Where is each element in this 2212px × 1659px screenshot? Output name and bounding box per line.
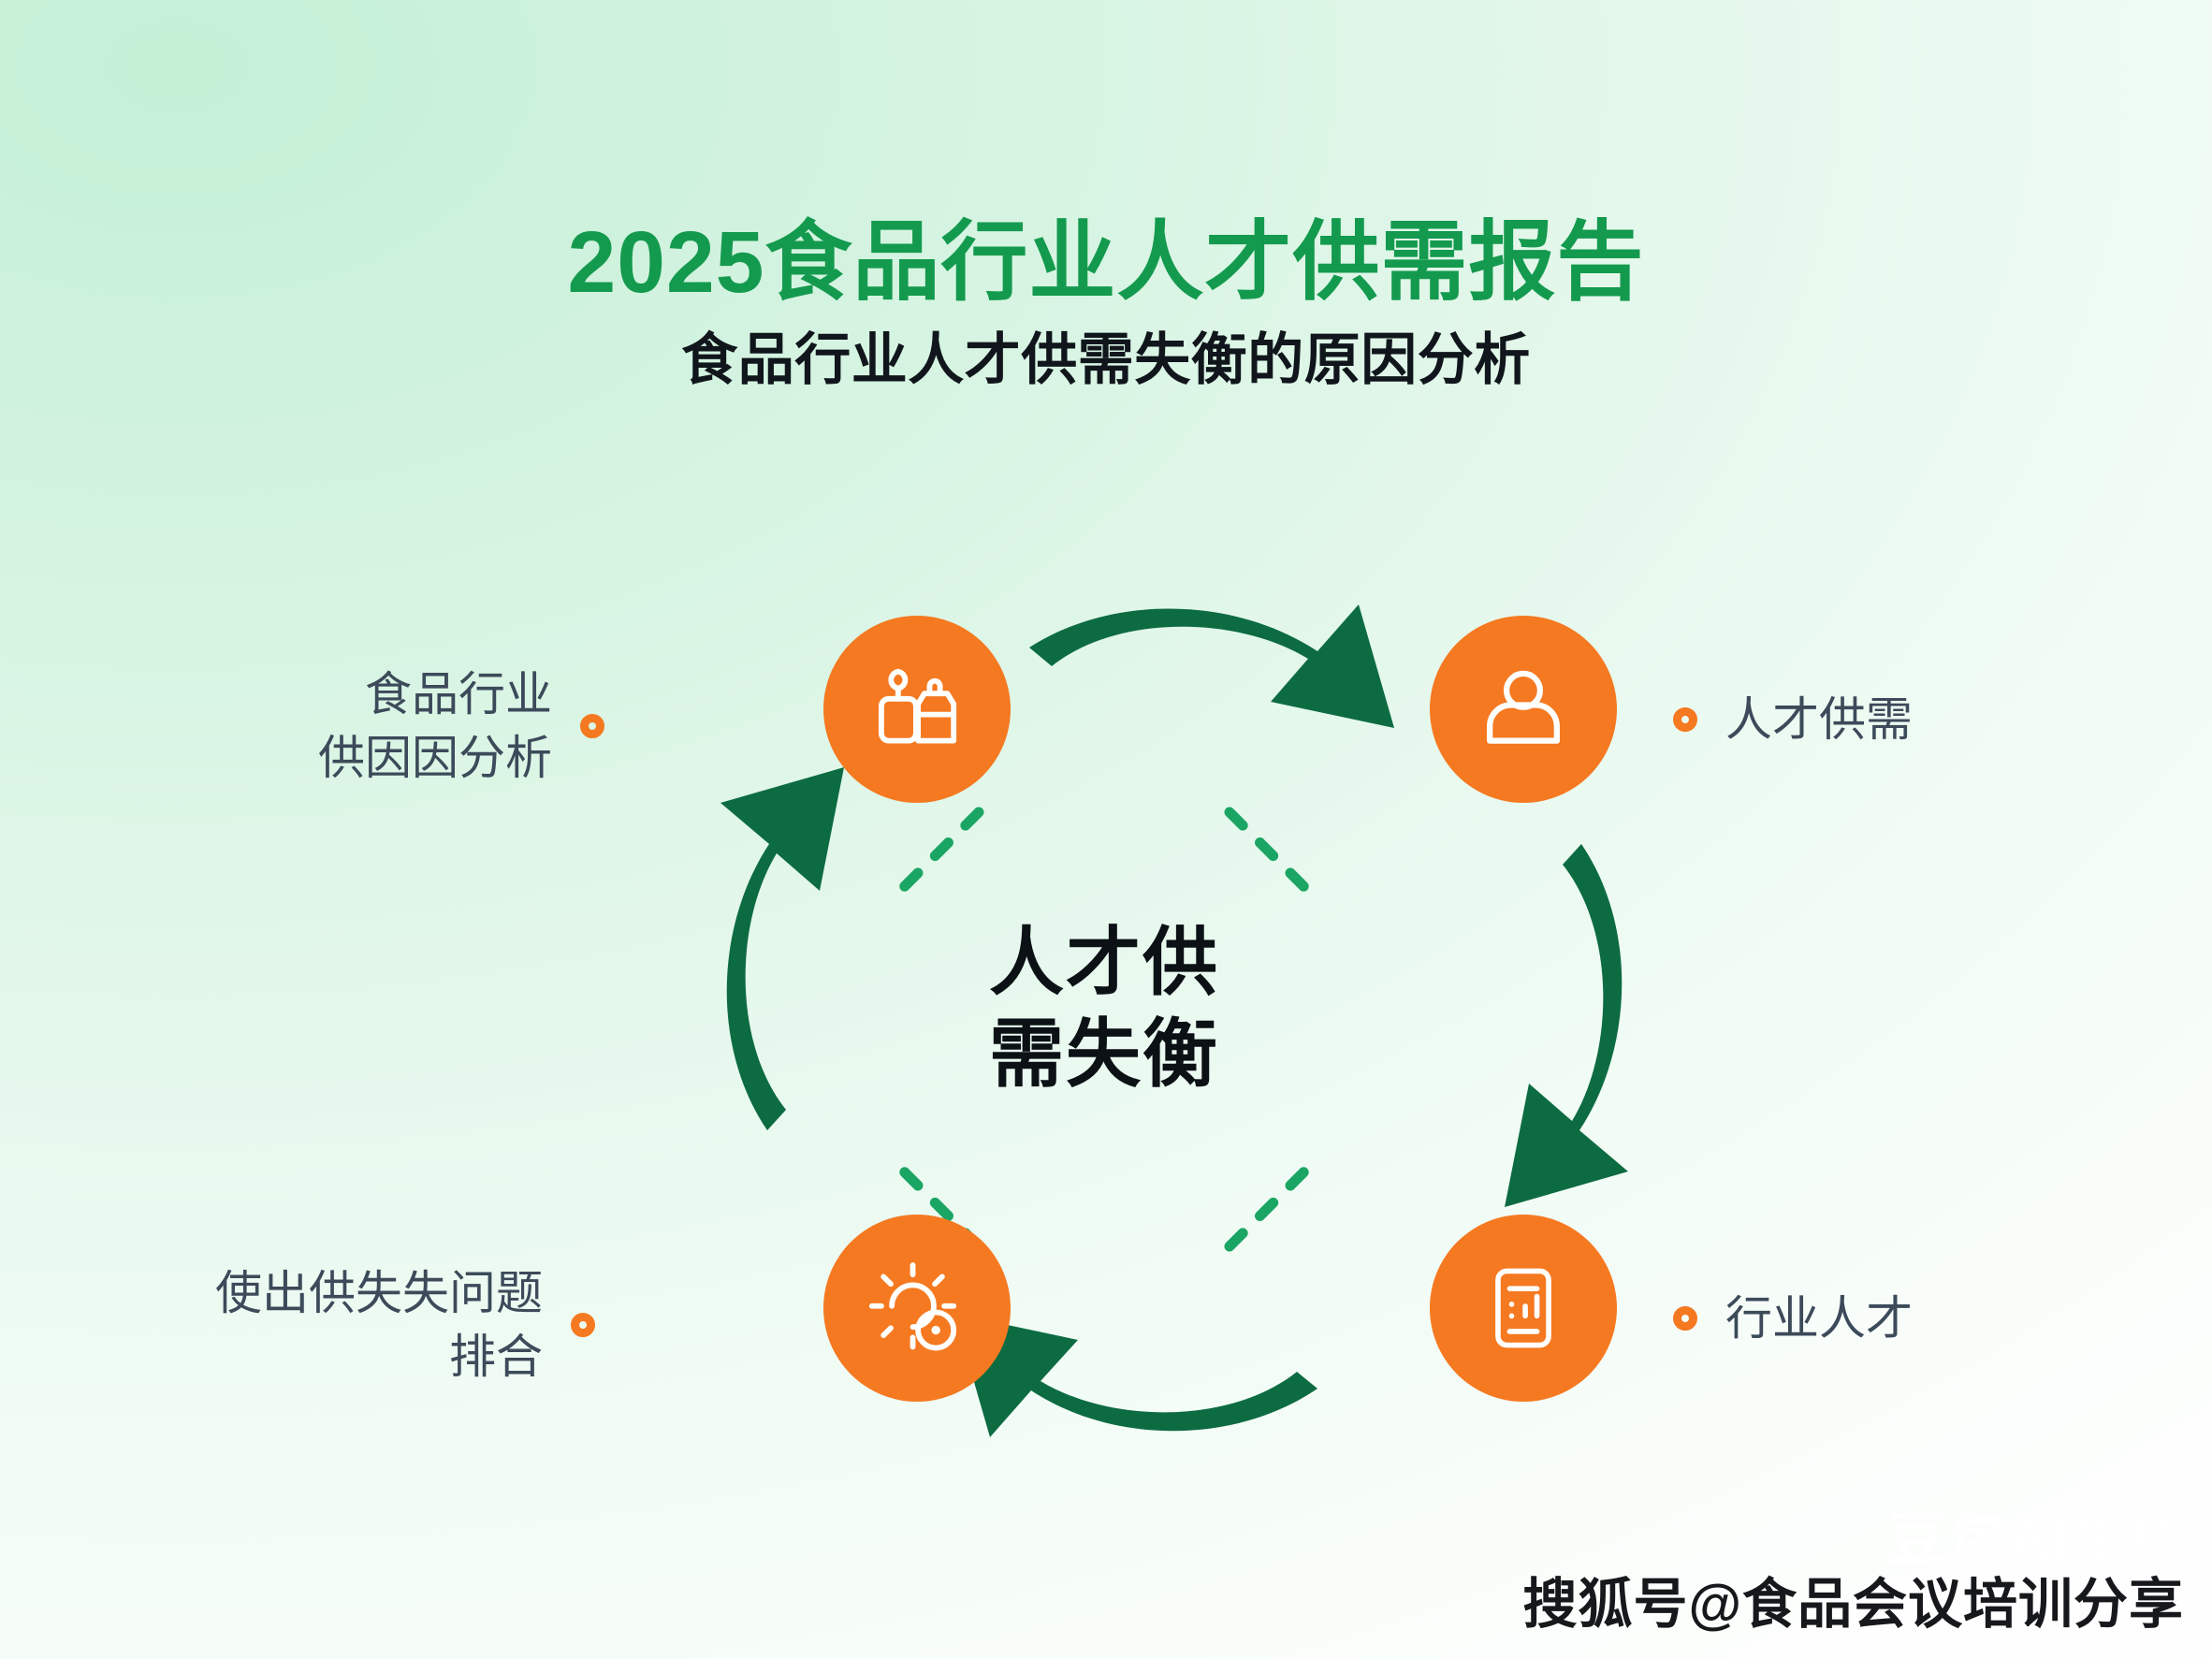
person-icon bbox=[1471, 657, 1576, 762]
label-text: 使出供失失问题 排合 bbox=[215, 1261, 543, 1389]
arrow-bottom bbox=[954, 1314, 1317, 1437]
label-line-1: 人才供需 bbox=[1725, 688, 1913, 751]
label-line-1: 行业人才 bbox=[1725, 1287, 1913, 1350]
node-industry-talent[interactable] bbox=[1430, 1215, 1617, 1402]
node-imbalance-problem[interactable] bbox=[823, 1215, 1011, 1402]
label-node-talent-supply-demand: 人才供需 bbox=[1673, 688, 1913, 751]
label-node-industry-talent: 行业人才 bbox=[1673, 1287, 1913, 1350]
label-text: 食品行业 供因因分析 bbox=[318, 662, 552, 790]
label-node-imbalance-problem: 使出供失失问题 排合 bbox=[215, 1261, 595, 1389]
label-line-2: 供因因分析 bbox=[318, 726, 552, 790]
label-line-1: 使出供失失问题 bbox=[215, 1261, 543, 1325]
arrow-top bbox=[1029, 604, 1394, 728]
dash-top-left bbox=[904, 812, 979, 887]
arrow-right bbox=[1505, 844, 1628, 1207]
infographic-canvas: 2025食品行业人才供需报告 食品行业人才供需失衡的原因分析 bbox=[0, 0, 2212, 1659]
arrow-left bbox=[720, 767, 844, 1130]
page-title: 2025食品行业人才供需报告 bbox=[0, 215, 2212, 309]
label-line-2: 排合 bbox=[215, 1325, 543, 1389]
label-text: 行业人才 bbox=[1725, 1287, 1913, 1350]
center-label: 人才供 需失衡 bbox=[950, 917, 1259, 1099]
label-text: 人才供需 bbox=[1725, 688, 1913, 751]
bullet-ring-icon bbox=[571, 1313, 595, 1337]
report-chart-icon bbox=[1475, 1259, 1572, 1357]
cycle-diagram: 食品行业 供因因分析 使出供失失问题 排合 人才供需 行业人才 bbox=[543, 561, 1666, 1497]
node-talent-supply-demand[interactable] bbox=[1430, 616, 1617, 803]
center-line-1: 人才供 bbox=[950, 917, 1259, 1009]
bullet-ring-icon bbox=[580, 714, 604, 738]
bullet-ring-icon bbox=[1673, 707, 1697, 732]
label-line-1: 食品行业 bbox=[318, 662, 552, 726]
account-watermark: 搜狐号@食品会议培训分享 bbox=[1522, 1560, 2184, 1638]
label-node-food-industry: 食品行业 供因因分析 bbox=[318, 662, 604, 790]
page-subtitle: 食品行业人才供需失衡的原因分析 bbox=[0, 329, 2212, 391]
dash-top-right bbox=[1230, 812, 1304, 887]
node-food-industry[interactable] bbox=[823, 616, 1011, 803]
header: 2025食品行业人才供需报告 食品行业人才供需失衡的原因分析 bbox=[0, 215, 2212, 391]
food-packages-icon bbox=[865, 657, 969, 762]
bullet-ring-icon bbox=[1673, 1306, 1697, 1331]
dash-bottom-right bbox=[1230, 1171, 1304, 1246]
center-line-2: 需失衡 bbox=[950, 1009, 1259, 1100]
insight-sun-icon bbox=[865, 1256, 969, 1361]
